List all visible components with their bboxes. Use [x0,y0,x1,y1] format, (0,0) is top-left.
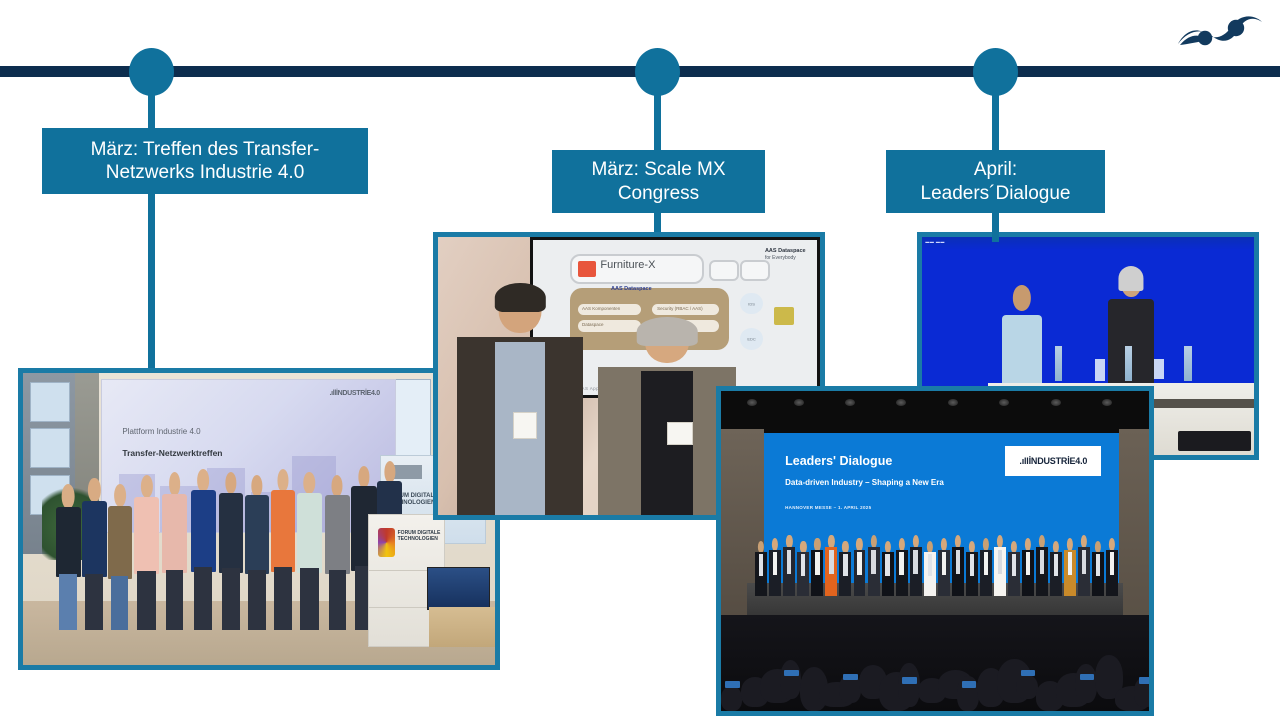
timeline-label-3[interactable]: April:Leaders´Dialogue [886,150,1105,213]
photo4-screen-date: HANNOVER MESSE – 1. APRIL 2025 [785,505,871,510]
photo4-group-person [868,535,880,596]
photo2-man-left [457,287,583,515]
photo2-product-name: Furniture-X [600,259,655,271]
photo1-screen-logo: .ıllİNDUSTRİE4.0 [329,390,379,397]
photo4-screen-title: Leaders' Dialogue [785,454,892,468]
photo4-audience-phone [1139,677,1149,684]
photo4-group-person [1106,538,1118,596]
photo2-tab-2 [740,260,770,281]
photo4-spotlight [794,399,804,406]
photo2-badge-left [513,412,538,439]
photo1-person [325,475,350,630]
timeline-label-2[interactable]: März: Scale MXCongress [552,150,765,213]
photo1-person [56,484,81,630]
timeline-label-1-line2: Netzwerks Industrie 4.0 [48,161,362,184]
photo1-person [191,469,216,630]
photo4-group-person [783,535,795,596]
photo1-podium-text: FORUM DIGITALE TECHNOLOGIEN [398,530,445,543]
photo4-group-person [1022,538,1034,596]
photo2-qr-tile [774,307,794,326]
timeline-label-1[interactable]: März: Treffen des Transfer-Netzwerks Ind… [42,128,368,194]
photo4-group-person [839,541,851,595]
photo4-group-person [1078,535,1090,596]
photo4-group-person [755,541,767,595]
timeline-node-1[interactable] [129,48,174,96]
photo2-inner-box-1: AAS Komponenten [578,304,642,315]
photo1-person [134,475,159,630]
photo4-audience-head [721,686,742,711]
photo1-window-1 [30,382,70,422]
timeline-label-2-text: März: Scale MXCongress [558,158,759,204]
photo4-ceiling [721,391,1149,436]
photo4-group-person [882,541,894,595]
photo4-group-person [769,538,781,596]
slide-canvas: März: Treffen des Transfer-Netzwerks Ind… [0,0,1280,720]
photo4-audience-phone [1080,674,1095,681]
photo4-group-person [1050,541,1062,595]
photo3-bottle-3 [1184,346,1192,381]
photo1-window-2 [30,428,70,468]
photo2-inner-box-2: Security (RBAC / AAS) [652,304,719,315]
photo2-product-chip: Furniture-X [570,254,705,284]
timeline-label-2-line2: Congress [558,182,759,205]
photo4-group-person [952,535,964,596]
photo4-group-person [896,538,908,596]
photo4-group-person [924,541,936,595]
photo-transfer-netzwerktreffen[interactable]: .ıllİNDUSTRİE4.0 Plattform Industrie 4.0… [18,368,500,670]
photo4-spotlight [747,399,757,406]
photo1-person [162,472,187,630]
photo1-screen-line2: Transfer-Netzwerktreffen [122,448,222,458]
photo4-audience-phone [902,677,917,684]
photo1-monitor [427,567,490,610]
timeline-label-1-line1: März: Treffen des Transfer- [48,138,362,161]
photo4-audience-head [1075,664,1096,703]
photo4-group-person [811,538,823,596]
photo4-audience-phone [784,670,799,677]
photo4-spotlight [948,399,958,406]
photo1-table [429,607,495,648]
photo4-audience-phone [962,681,977,688]
photo1-person [297,472,322,630]
photo4-group-person [910,535,922,596]
photo-leaders-dialogue-stage[interactable]: Leaders' Dialogue Data-driven Industry –… [716,386,1154,716]
timeline-label-2-line1: März: Scale MX [558,158,759,181]
photo4-spotlight [1102,399,1112,406]
photo3-backdrop-top [922,237,1254,250]
photo4-spotlight [1051,399,1061,406]
photo1-screen-line1: Plattform Industrie 4.0 [122,427,200,436]
photo3-corner-text: ▬▬ ▬▬ [925,239,945,244]
timeline-label-1-text: März: Treffen des Transfer-Netzwerks Ind… [48,138,362,184]
photo4-audience [721,615,1149,711]
photo4-group-person [938,538,950,596]
photo4-group-person [994,535,1006,596]
photo4-screen-subtitle: Data-driven Industry – Shaping a New Era [785,478,944,487]
photo1-person [108,484,132,630]
photo4-group-person [1036,535,1048,596]
photo1-person [82,478,107,630]
photo2-cloud-ids: IDS [740,293,763,315]
photo2-dataspace-label: AAS Dataspace [611,286,652,292]
photo3-glass-2 [1154,359,1164,379]
photo4-industrie40-logo: .ıllİNDUSTRİE4.0 [1005,446,1101,476]
photo4-group-person [797,541,809,595]
plattform-industrie-40-swoosh-logo [1174,8,1266,56]
photo4-group-person [854,538,866,596]
photo2-product-icon [578,261,596,277]
photo3-person-left [1002,285,1042,385]
photo3-speaker-box [1178,431,1251,451]
photo4-audience-head [898,663,919,707]
photo3-bottle-2 [1125,346,1133,381]
photo1-person [219,472,244,630]
photo2-cloud-edc: EDC [740,328,763,350]
photo4-audience-head [1016,675,1037,700]
photo4-right-wall [1119,429,1149,615]
timeline-label-3-line1: April: [892,158,1099,181]
timeline-node-3[interactable] [973,48,1018,96]
photo4-group-person [980,538,992,596]
photo4-audience-phone [843,674,858,681]
timeline-label-3-line2: Leaders´Dialogue [892,182,1099,205]
photo1-person [245,475,270,630]
photo2-aas-dataspace-logo: AAS Dataspace for Everybody [765,248,806,262]
photo4-audience-head [780,660,801,699]
photo3-glass-1 [1095,359,1105,381]
photo1-person [271,469,296,630]
photo4-audience-phone [725,681,740,688]
photo4-group-person [825,535,837,596]
photo4-group-person [1008,541,1020,595]
timeline-node-2[interactable] [635,48,680,96]
photo2-tab-1 [709,260,739,281]
timeline-label-3-text: April:Leaders´Dialogue [892,158,1099,204]
photo4-group-person [1064,538,1076,596]
photo3-bottle-1 [1055,346,1063,381]
photo4-group-person [966,541,978,595]
photo4-group-person [1092,541,1104,595]
photo4-audience-phone [1021,670,1036,677]
photo2-badge-right [667,422,692,445]
